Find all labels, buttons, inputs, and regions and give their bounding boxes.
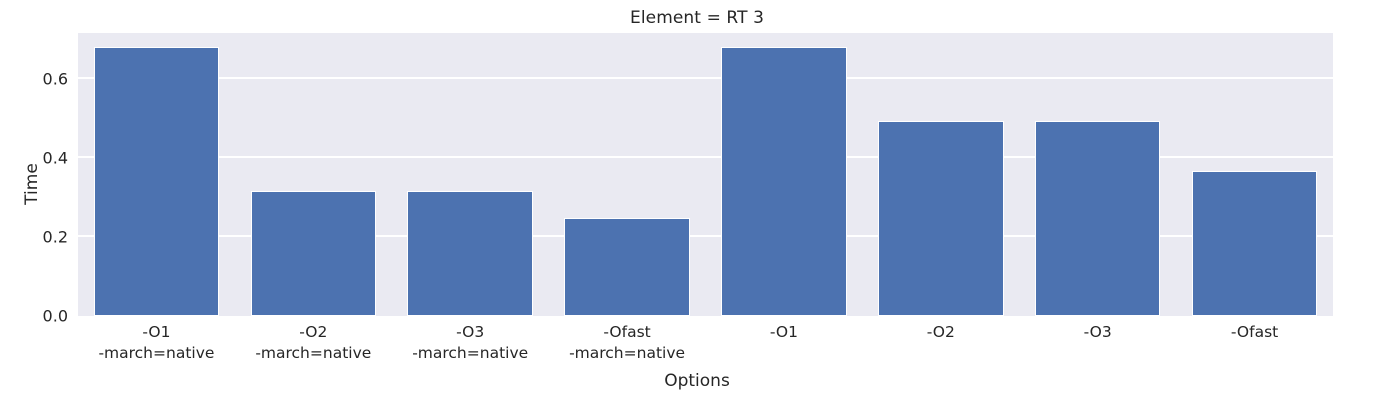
- x-axis-tick-label: -O1: [706, 322, 863, 343]
- bar[interactable]: [878, 121, 1004, 316]
- x-axis-tick-label: -O3: [1019, 322, 1176, 343]
- x-axis-tick-label: -Ofast -march=native: [549, 322, 706, 364]
- y-axis-tick-label: 0.6: [8, 69, 68, 88]
- bar[interactable]: [251, 191, 377, 316]
- x-axis-tick-label: -O2 -march=native: [235, 322, 392, 364]
- bar[interactable]: [564, 218, 690, 316]
- figure: Element = RT 3 0.00.20.40.6 Time -O1 -ma…: [0, 0, 1394, 405]
- bar[interactable]: [721, 47, 847, 316]
- bar[interactable]: [407, 191, 533, 316]
- y-axis-tick-label: 0.0: [8, 307, 68, 326]
- bar[interactable]: [94, 47, 220, 316]
- x-axis-tick-label: -O1 -march=native: [78, 322, 235, 364]
- bar[interactable]: [1192, 171, 1318, 316]
- chart-title: Element = RT 3: [0, 8, 1394, 28]
- bars-group: [78, 33, 1333, 316]
- plot-area: [78, 33, 1333, 316]
- x-axis-tick-label: -Ofast: [1176, 322, 1333, 343]
- x-axis-tick-label: -O3 -march=native: [392, 322, 549, 364]
- y-axis-label: Time: [22, 124, 42, 244]
- x-axis-label: Options: [0, 371, 1394, 391]
- bar[interactable]: [1035, 121, 1161, 316]
- x-axis-tick-label: -O2: [862, 322, 1019, 343]
